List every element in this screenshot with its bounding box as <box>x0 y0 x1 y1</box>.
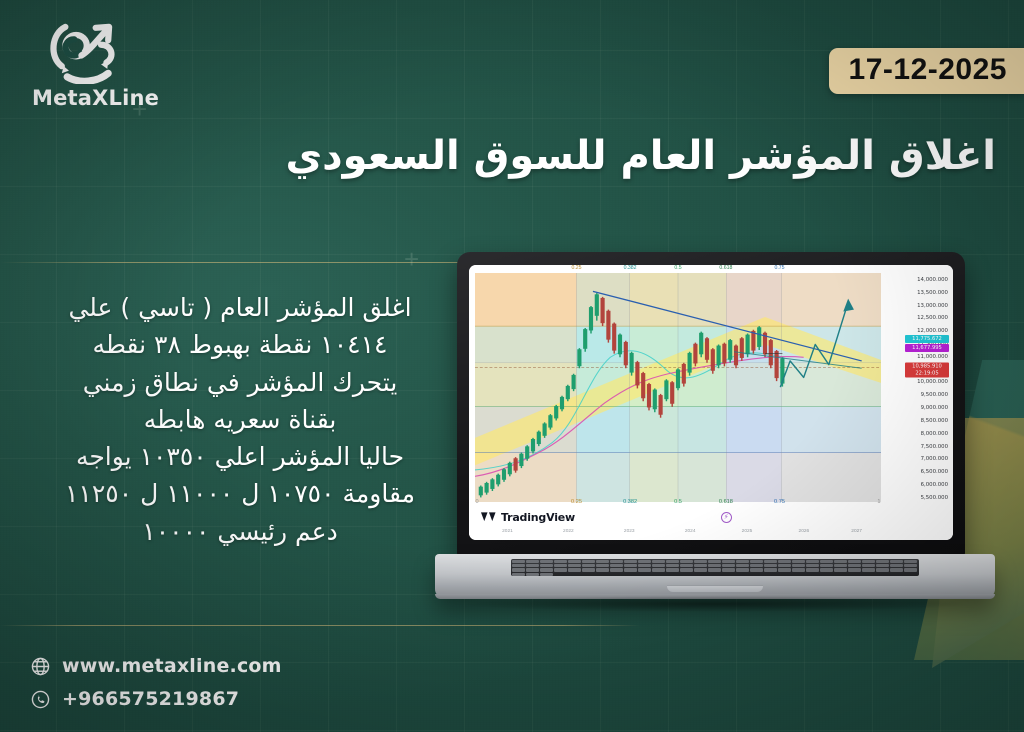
poster-canvas: + + + MetaXLine 17-12-2025 اغلاق المؤشر … <box>0 0 1024 732</box>
background-vignette <box>0 0 1024 732</box>
